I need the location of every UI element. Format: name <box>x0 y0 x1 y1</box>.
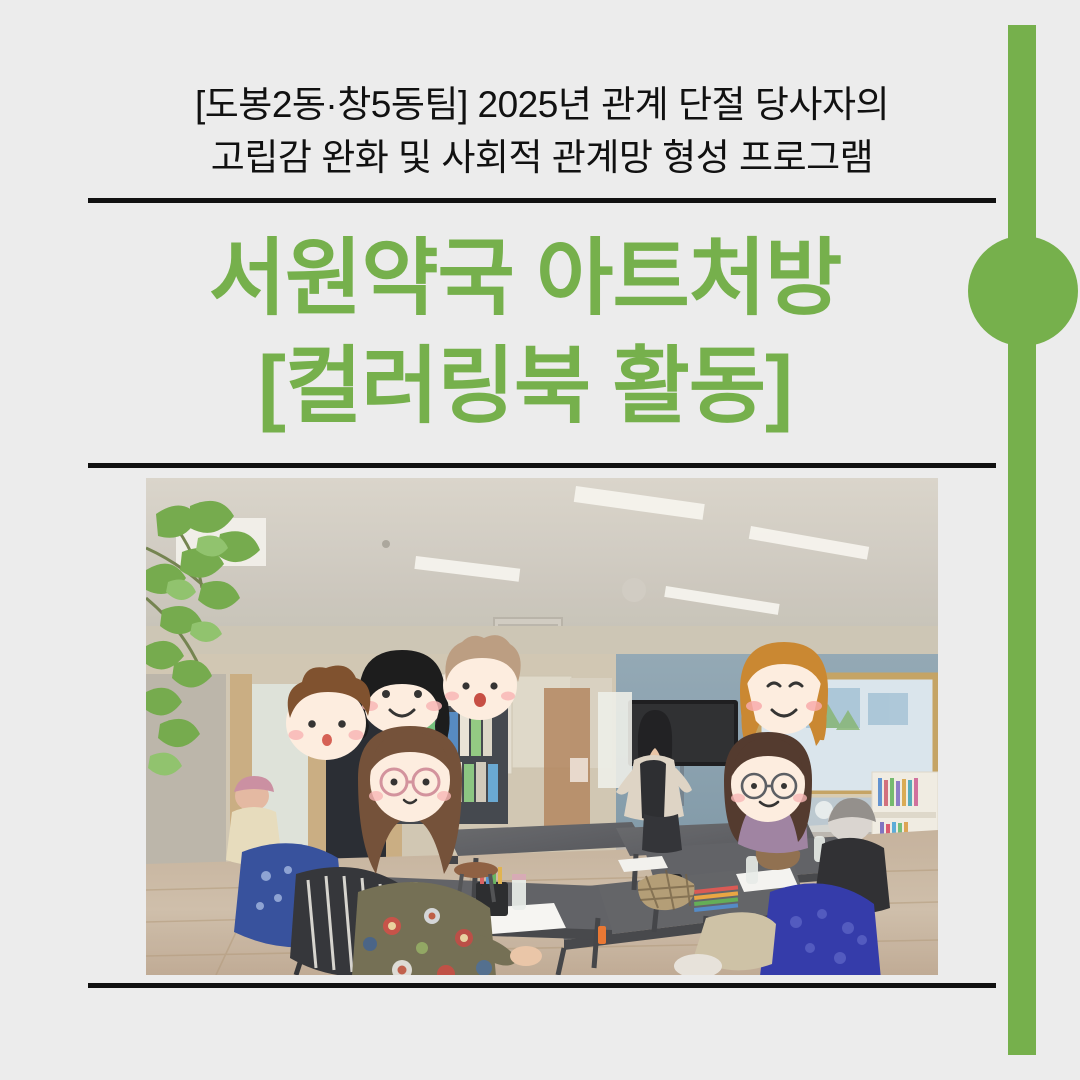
poster-canvas: [도봉2동·창5동팀] 2025년 관계 단절 당사자의 고립감 완화 및 사회… <box>0 0 1080 1080</box>
divider-bottom <box>88 983 996 988</box>
poster-subtitle: [도봉2동·창5동팀] 2025년 관계 단절 당사자의 고립감 완화 및 사회… <box>88 78 996 184</box>
divider-top <box>88 198 996 203</box>
poster-title: 서원약국 아트처방 [컬러링북 활동] <box>60 224 990 440</box>
accent-bar-decoration <box>1008 25 1036 1055</box>
divider-middle <box>88 463 996 468</box>
activity-photo <box>146 478 938 975</box>
activity-photo-illustration <box>146 478 938 975</box>
